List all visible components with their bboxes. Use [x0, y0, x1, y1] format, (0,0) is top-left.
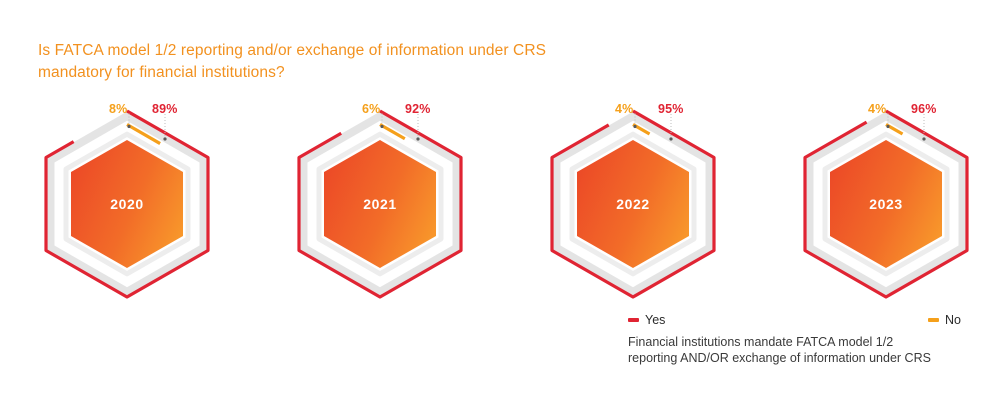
gauge-year-label-2021: 2021 [310, 196, 450, 212]
gauge-2022[interactable]: 4%95%2022 [536, 96, 786, 306]
gauge-pct-yes-2021: 92% [405, 102, 431, 116]
gauge-year-label-2020: 2020 [57, 196, 197, 212]
legend-description: Financial institutions mandate FATCA mod… [628, 334, 1000, 366]
leader-dot-no-2023 [886, 125, 889, 128]
gauge-2023[interactable]: 4%96%2023 [789, 96, 1000, 306]
gauge-2020[interactable]: 8%89%2020 [30, 96, 280, 306]
leader-dot-no-2020 [127, 125, 130, 128]
gauge-pct-no-2023: 4% [868, 102, 886, 116]
infographic-canvas: Is FATCA model 1/2 reporting and/or exch… [0, 0, 1000, 400]
legend-description-line-2: reporting AND/OR exchange of information… [628, 350, 1000, 366]
leader-dot-yes-2023 [922, 137, 925, 140]
leader-dot-yes-2020 [163, 137, 166, 140]
gauge-pct-no-2021: 6% [362, 102, 380, 116]
leader-dot-no-2022 [633, 125, 636, 128]
legend: Yes No Financial institutions mandate FA… [628, 314, 1000, 370]
gauge-pct-yes-2022: 95% [658, 102, 684, 116]
gauge-pct-no-2022: 4% [615, 102, 633, 116]
gauge-pct-no-2020: 8% [109, 102, 127, 116]
gauge-2021[interactable]: 6%92%2021 [283, 96, 533, 306]
leader-dot-yes-2022 [669, 137, 672, 140]
legend-description-line-1: Financial institutions mandate FATCA mod… [628, 334, 1000, 350]
legend-label-yes: Yes [645, 314, 665, 327]
legend-label-no: No [945, 314, 961, 327]
page-title-line-1: Is FATCA model 1/2 reporting and/or exch… [38, 42, 509, 59]
leader-dot-no-2021 [380, 125, 383, 128]
gauge-pct-yes-2023: 96% [911, 102, 937, 116]
dash-icon-no [928, 318, 939, 322]
dash-icon-yes [628, 318, 639, 322]
gauge-year-label-2022: 2022 [563, 196, 703, 212]
gauge-year-label-2023: 2023 [816, 196, 956, 212]
legend-row: Yes No [628, 314, 1000, 331]
leader-dot-yes-2021 [416, 137, 419, 140]
gauge-pct-yes-2020: 89% [152, 102, 178, 116]
legend-item-yes[interactable]: Yes [628, 314, 665, 327]
page-title: Is FATCA model 1/2 reporting and/or exch… [38, 40, 578, 84]
legend-item-no[interactable]: No [928, 314, 961, 327]
